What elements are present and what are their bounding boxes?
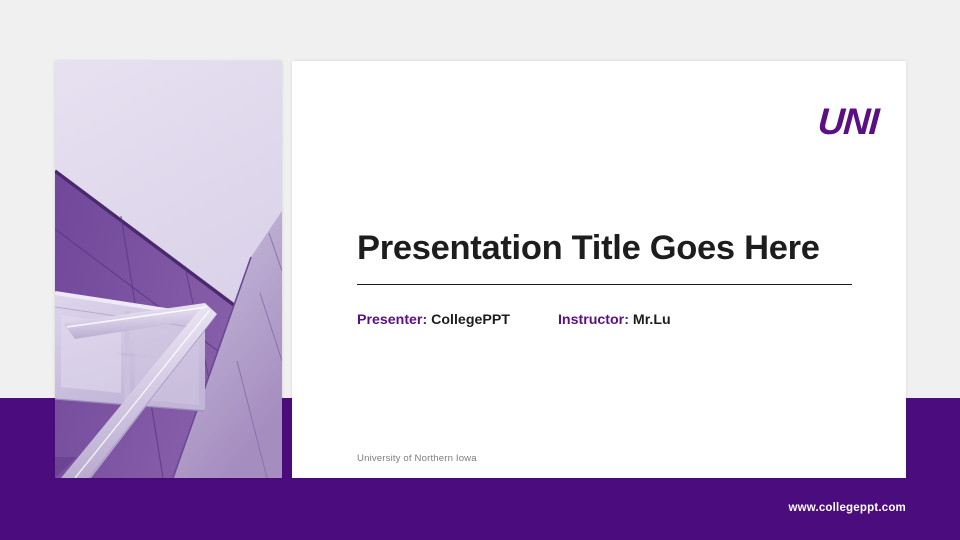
credits-line: Presenter: CollegePPT Instructor: Mr.Lu bbox=[357, 312, 671, 328]
title-block: Presentation Title Goes Here bbox=[357, 229, 852, 285]
presenter-credit: Presenter: CollegePPT bbox=[357, 312, 510, 328]
organization-name: University of Northern Iowa bbox=[357, 453, 477, 464]
presenter-label: Presenter: bbox=[357, 312, 427, 328]
uni-logo: UNI bbox=[817, 103, 880, 140]
website-url: www.collegeppt.com bbox=[788, 502, 906, 514]
page-title: Presentation Title Goes Here bbox=[357, 229, 852, 268]
presenter-value: CollegePPT bbox=[431, 312, 510, 328]
instructor-label: Instructor: bbox=[558, 312, 629, 328]
cover-photo-artwork bbox=[55, 61, 282, 478]
instructor-value: Mr.Lu bbox=[633, 312, 671, 328]
instructor-credit: Instructor: Mr.Lu bbox=[558, 312, 671, 328]
slide-card: UNI Presentation Title Goes Here Present… bbox=[292, 61, 906, 478]
cover-photo bbox=[55, 61, 282, 478]
title-divider bbox=[357, 284, 852, 285]
